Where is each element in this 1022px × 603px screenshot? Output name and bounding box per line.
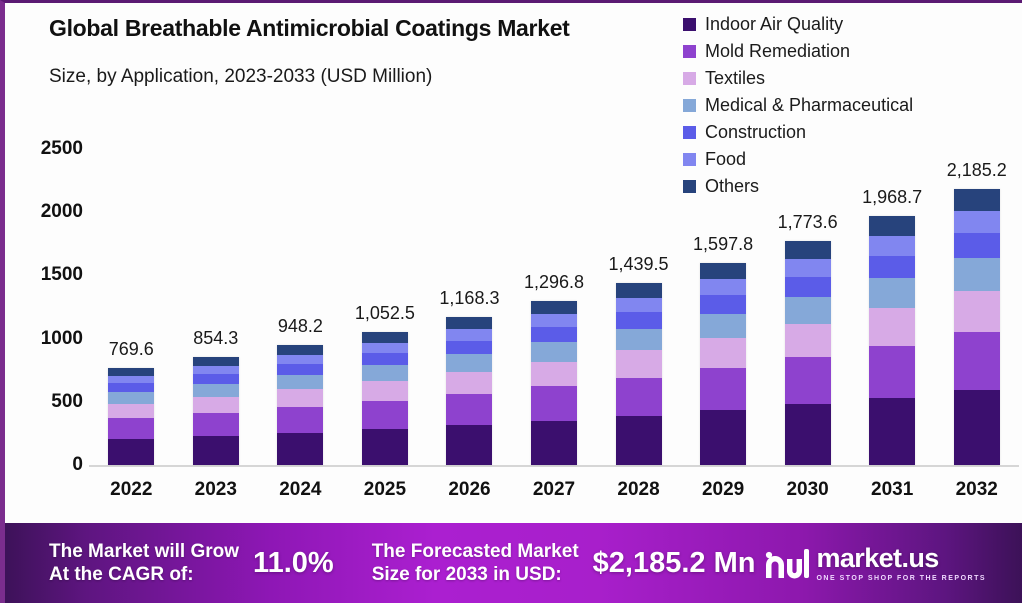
bar-segment[interactable] bbox=[954, 189, 1000, 211]
bar-segment[interactable] bbox=[362, 343, 408, 354]
bar-segment[interactable] bbox=[954, 233, 1000, 258]
bar-segment[interactable] bbox=[700, 295, 746, 313]
bar-segment[interactable] bbox=[277, 355, 323, 365]
logo-text: market.us ONE STOP SHOP FOR THE REPORTS bbox=[816, 545, 986, 582]
bar-segment[interactable] bbox=[869, 236, 915, 256]
cagr-caption-line2: At the CAGR of: bbox=[49, 563, 239, 586]
bar-stack[interactable] bbox=[362, 332, 408, 465]
y-axis-tick-label: 2500 bbox=[11, 138, 83, 160]
bar-segment[interactable] bbox=[954, 211, 1000, 233]
bar-segment[interactable] bbox=[362, 365, 408, 381]
bar-segment[interactable] bbox=[785, 241, 831, 259]
x-axis-tick-label: 2031 bbox=[871, 479, 913, 501]
bar-stack[interactable] bbox=[700, 263, 746, 465]
x-axis-tick-label: 2027 bbox=[533, 479, 575, 501]
bar-segment[interactable] bbox=[277, 375, 323, 389]
bar-stack[interactable] bbox=[531, 301, 577, 465]
bar-stack[interactable] bbox=[954, 189, 1000, 465]
x-axis-tick-label: 2022 bbox=[110, 479, 152, 501]
bar-stack[interactable] bbox=[446, 317, 492, 465]
bar-segment[interactable] bbox=[193, 366, 239, 375]
bar-segment[interactable] bbox=[616, 416, 662, 465]
bar-column[interactable]: 2,185.2 bbox=[934, 103, 1019, 465]
cagr-caption: The Market will Grow At the CAGR of: bbox=[49, 540, 239, 586]
y-axis-tick-label: 1000 bbox=[11, 328, 83, 350]
cagr-value: 11.0% bbox=[253, 547, 334, 580]
cagr-caption-line1: The Market will Grow bbox=[49, 540, 239, 563]
x-axis-tick-label: 2028 bbox=[617, 479, 659, 501]
x-axis-tick-label: 2024 bbox=[279, 479, 321, 501]
bar-column[interactable]: 1,439.5 bbox=[596, 103, 681, 465]
bar-segment[interactable] bbox=[108, 376, 154, 384]
bar-segment[interactable] bbox=[446, 317, 492, 329]
bar-segment[interactable] bbox=[700, 263, 746, 279]
bar-segment[interactable] bbox=[616, 312, 662, 328]
bar-segment[interactable] bbox=[277, 407, 323, 432]
bar-stack[interactable] bbox=[869, 216, 915, 465]
bar-segment[interactable] bbox=[531, 314, 577, 327]
forecast-value: $2,185.2 Mn bbox=[593, 547, 756, 580]
bar-value-label: 1,968.7 bbox=[862, 187, 922, 208]
bar-segment[interactable] bbox=[785, 404, 831, 465]
bar-stack[interactable] bbox=[785, 241, 831, 465]
bar-segment[interactable] bbox=[446, 354, 492, 372]
bar-segment[interactable] bbox=[446, 329, 492, 341]
bar-stack[interactable] bbox=[108, 368, 154, 465]
bar-column[interactable]: 1,168.3 bbox=[427, 103, 512, 465]
bar-segment[interactable] bbox=[531, 386, 577, 420]
bars-container: 769.6854.3948.21,052.51,168.31,296.81,43… bbox=[89, 103, 1019, 465]
x-axis-tick-label: 2029 bbox=[702, 479, 744, 501]
x-axis-tick-label: 2023 bbox=[195, 479, 237, 501]
bar-segment[interactable] bbox=[700, 338, 746, 368]
bar-value-label: 948.2 bbox=[278, 316, 323, 337]
bar-segment[interactable] bbox=[954, 390, 1000, 465]
bar-segment[interactable] bbox=[108, 418, 154, 438]
bar-segment[interactable] bbox=[193, 397, 239, 413]
bar-segment[interactable] bbox=[785, 357, 831, 404]
bar-segment[interactable] bbox=[531, 362, 577, 387]
bar-segment[interactable] bbox=[616, 329, 662, 351]
bar-value-label: 2,185.2 bbox=[947, 160, 1007, 181]
logo-tagline: ONE STOP SHOP FOR THE REPORTS bbox=[816, 575, 986, 582]
bar-segment[interactable] bbox=[785, 324, 831, 358]
bar-segment[interactable] bbox=[531, 301, 577, 314]
bar-value-label: 1,168.3 bbox=[439, 288, 499, 309]
bar-value-label: 1,439.5 bbox=[609, 254, 669, 275]
bar-segment[interactable] bbox=[531, 342, 577, 362]
bar-segment[interactable] bbox=[954, 332, 1000, 390]
bar-segment[interactable] bbox=[446, 341, 492, 354]
bar-segment[interactable] bbox=[193, 357, 239, 366]
bar-segment[interactable] bbox=[277, 433, 323, 465]
bar-column[interactable]: 1,597.8 bbox=[681, 103, 766, 465]
forecast-caption-line2: Size for 2033 in USD: bbox=[372, 563, 579, 586]
market-us-logo: market.us ONE STOP SHOP FOR THE REPORTS bbox=[761, 545, 986, 582]
bar-segment[interactable] bbox=[362, 353, 408, 365]
bar-segment[interactable] bbox=[277, 364, 323, 375]
bar-segment[interactable] bbox=[700, 368, 746, 410]
bar-value-label: 1,296.8 bbox=[524, 272, 584, 293]
x-axis-tick-label: 2030 bbox=[786, 479, 828, 501]
bar-segment[interactable] bbox=[531, 327, 577, 342]
footer-banner: The Market will Grow At the CAGR of: 11.… bbox=[5, 523, 1022, 603]
bar-column[interactable]: 1,773.6 bbox=[765, 103, 850, 465]
forecast-block: The Forecasted Market Size for 2033 in U… bbox=[372, 540, 756, 586]
forecast-caption: The Forecasted Market Size for 2033 in U… bbox=[372, 540, 579, 586]
bar-segment[interactable] bbox=[616, 378, 662, 416]
bar-segment[interactable] bbox=[446, 372, 492, 394]
bar-segment[interactable] bbox=[108, 392, 154, 404]
bar-segment[interactable] bbox=[446, 394, 492, 425]
bar-segment[interactable] bbox=[954, 258, 1000, 291]
bar-value-label: 1,597.8 bbox=[693, 234, 753, 255]
bar-segment[interactable] bbox=[616, 350, 662, 377]
bar-segment[interactable] bbox=[700, 410, 746, 465]
bar-segment[interactable] bbox=[616, 283, 662, 298]
bar-segment[interactable] bbox=[531, 421, 577, 465]
y-axis-tick-label: 0 bbox=[11, 454, 83, 476]
bar-segment[interactable] bbox=[954, 291, 1000, 332]
bar-segment[interactable] bbox=[193, 436, 239, 465]
bar-column[interactable]: 769.6 bbox=[89, 103, 174, 465]
bar-segment[interactable] bbox=[869, 278, 915, 308]
bar-segment[interactable] bbox=[869, 346, 915, 398]
y-axis-tick-label: 1500 bbox=[11, 264, 83, 286]
bar-value-label: 769.6 bbox=[109, 339, 154, 360]
logo-mark-icon bbox=[761, 546, 809, 580]
bar-segment[interactable] bbox=[700, 314, 746, 338]
bar-stack[interactable] bbox=[616, 283, 662, 465]
cagr-block: The Market will Grow At the CAGR of: 11.… bbox=[49, 540, 334, 586]
bar-segment[interactable] bbox=[362, 381, 408, 401]
y-axis-tick-label: 500 bbox=[11, 391, 83, 413]
bar-column[interactable]: 854.3 bbox=[174, 103, 259, 465]
bar-segment[interactable] bbox=[700, 279, 746, 295]
forecast-caption-line1: The Forecasted Market bbox=[372, 540, 579, 563]
x-axis-tick-label: 2025 bbox=[364, 479, 406, 501]
bar-segment[interactable] bbox=[446, 425, 492, 465]
bar-segment[interactable] bbox=[362, 332, 408, 343]
chart-page: Global Breathable Antimicrobial Coatings… bbox=[0, 0, 1022, 603]
bar-value-label: 854.3 bbox=[193, 328, 238, 349]
bar-column[interactable]: 948.2 bbox=[258, 103, 343, 465]
bar-segment[interactable] bbox=[108, 368, 154, 376]
bar-segment[interactable] bbox=[108, 439, 154, 465]
bar-stack[interactable] bbox=[193, 357, 239, 465]
bar-segment[interactable] bbox=[362, 429, 408, 465]
bar-segment[interactable] bbox=[869, 256, 915, 278]
bar-value-label: 1,773.6 bbox=[778, 212, 838, 233]
bar-value-label: 1,052.5 bbox=[355, 303, 415, 324]
bar-segment[interactable] bbox=[193, 413, 239, 436]
bar-segment[interactable] bbox=[869, 308, 915, 345]
bar-segment[interactable] bbox=[362, 401, 408, 429]
bar-segment[interactable] bbox=[277, 389, 323, 407]
x-axis-line bbox=[89, 465, 1019, 467]
bar-segment[interactable] bbox=[277, 345, 323, 355]
x-axis-tick-label: 2032 bbox=[956, 479, 998, 501]
chart-plot-area: 05001000150020002500 769.6854.3948.21,05… bbox=[5, 3, 1022, 518]
bar-column[interactable]: 1,968.7 bbox=[850, 103, 935, 465]
bar-segment[interactable] bbox=[108, 383, 154, 392]
bar-segment[interactable] bbox=[785, 297, 831, 324]
bar-segment[interactable] bbox=[193, 384, 239, 397]
x-axis-tick-label: 2026 bbox=[448, 479, 490, 501]
bar-segment[interactable] bbox=[785, 259, 831, 277]
logo-name: market.us bbox=[816, 545, 938, 572]
bar-segment[interactable] bbox=[869, 216, 915, 236]
bar-segment[interactable] bbox=[108, 404, 154, 419]
bar-column[interactable]: 1,052.5 bbox=[343, 103, 428, 465]
y-axis-tick-label: 2000 bbox=[11, 201, 83, 223]
bar-segment[interactable] bbox=[869, 398, 915, 465]
y-axis: 05001000150020002500 bbox=[5, 3, 83, 518]
bar-segment[interactable] bbox=[193, 374, 239, 384]
bar-stack[interactable] bbox=[277, 345, 323, 465]
bar-column[interactable]: 1,296.8 bbox=[512, 103, 597, 465]
bar-segment[interactable] bbox=[785, 277, 831, 297]
bar-segment[interactable] bbox=[616, 298, 662, 313]
